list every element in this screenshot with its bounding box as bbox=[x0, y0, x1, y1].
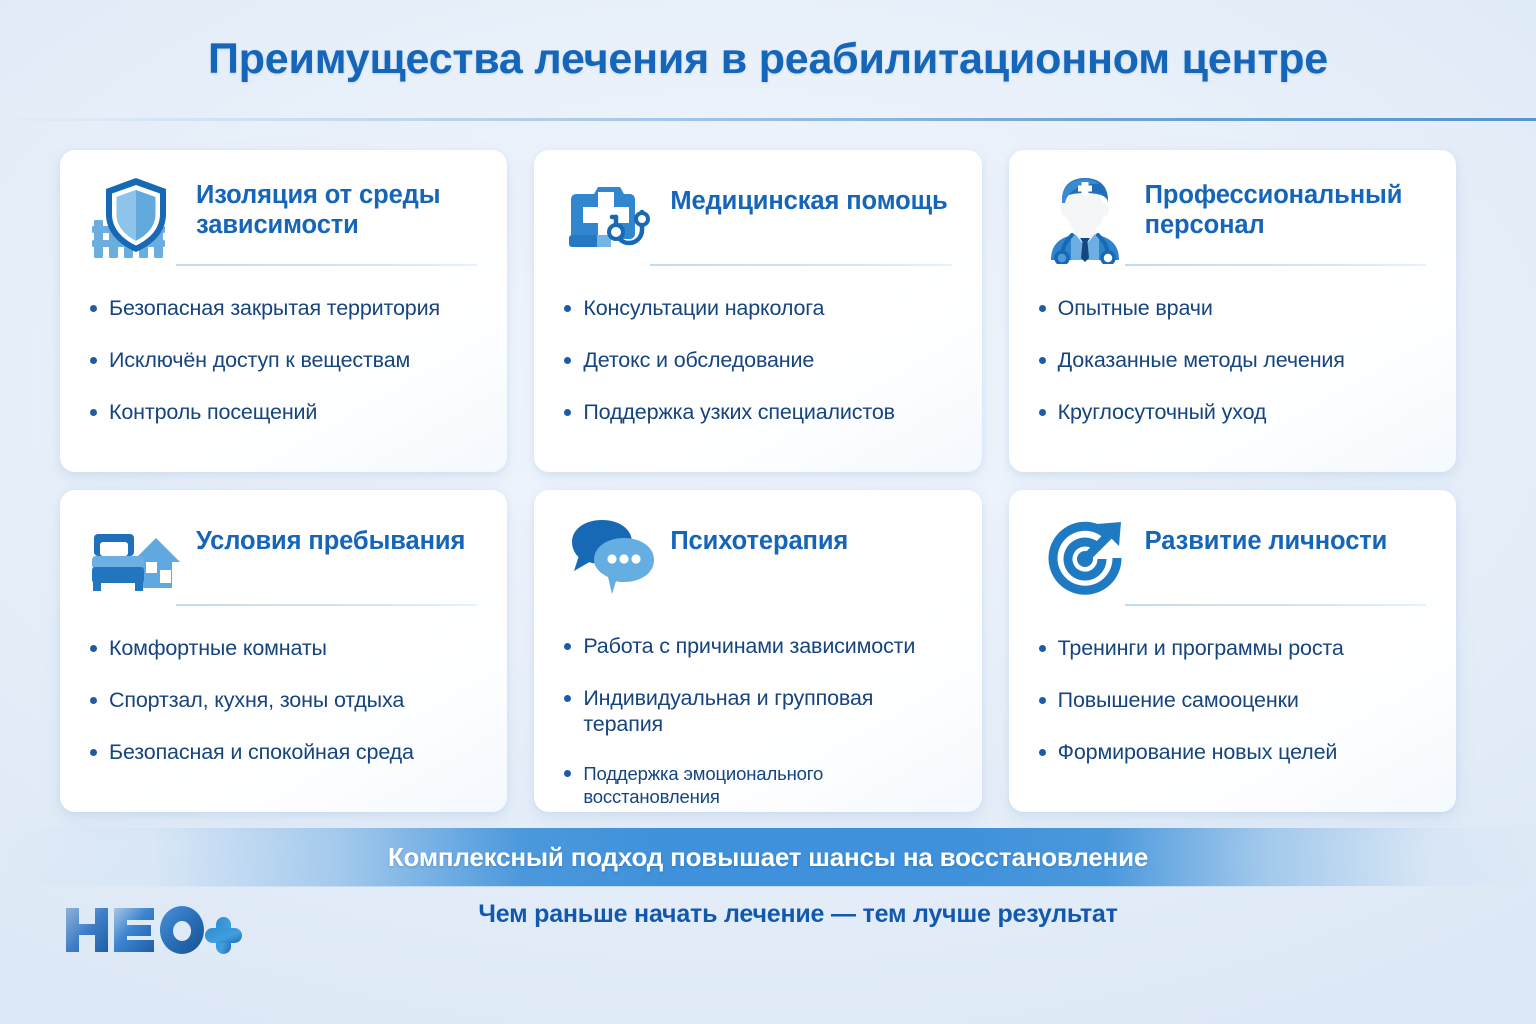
bullet-dot-icon bbox=[564, 409, 571, 416]
benefit-list: Комфортные комнаты Спортзал, кухня, зоны… bbox=[90, 636, 477, 765]
card-header: Психотерапия bbox=[564, 516, 951, 612]
list-item-label: Детокс и обследование bbox=[583, 348, 814, 374]
list-item-label: Круглосуточный уход bbox=[1058, 400, 1267, 426]
speech-bubbles-icon bbox=[564, 512, 656, 604]
shield-fence-icon bbox=[90, 172, 182, 264]
card-header: Медицинская помощь bbox=[564, 176, 951, 272]
card-divider bbox=[1125, 604, 1426, 606]
card-divider bbox=[650, 264, 951, 266]
benefit-list: Безопасная закрытая территория Исключён … bbox=[90, 296, 477, 425]
list-item: Комфортные комнаты bbox=[90, 636, 477, 662]
footer-tagline: Чем раньше начать лечение — тем лучше ре… bbox=[0, 900, 1536, 929]
card-divider bbox=[176, 264, 477, 266]
card-divider bbox=[1125, 264, 1426, 266]
card-title: Условия пребывания bbox=[196, 516, 465, 556]
page-header: Преимущества лечения в реабилитационном … bbox=[0, 0, 1536, 118]
bed-house-icon bbox=[90, 512, 182, 604]
card-header: Профессиональный персонал bbox=[1039, 176, 1426, 272]
list-item: Контроль посещений bbox=[90, 400, 477, 426]
list-item: Безопасная и спокойная среда bbox=[90, 740, 477, 766]
benefit-list: Тренинги и программы роста Повышение сам… bbox=[1039, 636, 1426, 765]
list-item: Безопасная закрытая территория bbox=[90, 296, 477, 322]
bullet-dot-icon bbox=[90, 645, 97, 652]
list-item: Поддержка эмоционального восстановления bbox=[564, 763, 951, 807]
list-item-label: Комфортные комнаты bbox=[109, 636, 327, 662]
page-title: Преимущества лечения в реабилитационном … bbox=[208, 35, 1328, 84]
page-footer: Чем раньше начать лечение — тем лучше ре… bbox=[0, 886, 1536, 976]
benefit-card-medical-help[interactable]: Медицинская помощь Консультации нарколог… bbox=[534, 150, 981, 472]
list-item: Детокс и обследование bbox=[564, 348, 951, 374]
list-item-label: Доказанные методы лечения bbox=[1058, 348, 1345, 374]
list-item-label: Исключён доступ к веществам bbox=[109, 348, 410, 374]
doctor-icon bbox=[1039, 172, 1131, 264]
card-title: Медицинская помощь bbox=[670, 176, 947, 216]
list-item-label: Поддержка эмоционального восстановления bbox=[583, 763, 951, 807]
bullet-dot-icon bbox=[90, 749, 97, 756]
bullet-dot-icon bbox=[1039, 409, 1046, 416]
card-header: Условия пребывания bbox=[90, 516, 477, 612]
benefit-card-psychotherapy[interactable]: Психотерапия Работа с причинами зависимо… bbox=[534, 490, 981, 812]
benefit-card-personal-growth[interactable]: Развитие личности Тренинги и программы р… bbox=[1009, 490, 1456, 812]
list-item-label: Повышение самооценки bbox=[1058, 688, 1299, 714]
summary-banner: Комплексный подход повышает шансы на вос… bbox=[0, 828, 1536, 886]
bullet-dot-icon bbox=[90, 409, 97, 416]
bullet-dot-icon bbox=[90, 697, 97, 704]
benefit-card-professional-staff[interactable]: Профессиональный персонал Опытные врачи … bbox=[1009, 150, 1456, 472]
card-title: Психотерапия bbox=[670, 516, 848, 556]
list-item-label: Опытные врачи bbox=[1058, 296, 1213, 322]
list-item: Тренинги и программы роста bbox=[1039, 636, 1426, 662]
target-arrow-icon bbox=[1039, 512, 1131, 604]
card-title: Профессиональный персонал bbox=[1145, 176, 1426, 240]
bullet-dot-icon bbox=[564, 695, 571, 702]
card-divider bbox=[176, 604, 477, 606]
list-item: Повышение самооценки bbox=[1039, 688, 1426, 714]
list-item: Опытные врачи bbox=[1039, 296, 1426, 322]
bullet-dot-icon bbox=[1039, 749, 1046, 756]
bullet-dot-icon bbox=[564, 305, 571, 312]
card-header: Изоляция от среды зависимости bbox=[90, 176, 477, 272]
list-item: Консультации нарколога bbox=[564, 296, 951, 322]
card-title: Изоляция от среды зависимости bbox=[196, 176, 477, 240]
bullet-dot-icon bbox=[564, 643, 571, 650]
medical-bag-stethoscope-icon bbox=[564, 172, 656, 264]
list-item: Работа с причинами зависимости bbox=[564, 634, 951, 660]
bullet-dot-icon bbox=[1039, 697, 1046, 704]
bullet-dot-icon bbox=[564, 357, 571, 364]
list-item-label: Безопасная закрытая территория bbox=[109, 296, 440, 322]
list-item: Исключён доступ к веществам bbox=[90, 348, 477, 374]
bullet-dot-icon bbox=[1039, 357, 1046, 364]
list-item-label: Поддержка узких специалистов bbox=[583, 400, 895, 426]
list-item-label: Консультации нарколога bbox=[583, 296, 824, 322]
benefit-card-accommodation[interactable]: Условия пребывания Комфортные комнаты Сп… bbox=[60, 490, 507, 812]
list-item: Круглосуточный уход bbox=[1039, 400, 1426, 426]
list-item-label: Индивидуальная и групповая терапия bbox=[583, 686, 951, 738]
benefit-list: Работа с причинами зависимости Индивидуа… bbox=[564, 634, 951, 808]
benefit-list: Опытные врачи Доказанные методы лечения … bbox=[1039, 296, 1426, 425]
banner-text: Комплексный подход повышает шансы на вос… bbox=[388, 842, 1148, 873]
bullet-dot-icon bbox=[1039, 645, 1046, 652]
bullet-dot-icon bbox=[1039, 305, 1046, 312]
benefit-card-isolation[interactable]: Изоляция от среды зависимости Безопасная… bbox=[60, 150, 507, 472]
list-item: Поддержка узких специалистов bbox=[564, 400, 951, 426]
list-item: Индивидуальная и групповая терапия bbox=[564, 686, 951, 738]
list-item-label: Работа с причинами зависимости bbox=[583, 634, 915, 660]
card-title: Развитие личности bbox=[1145, 516, 1388, 556]
list-item-label: Формирование новых целей bbox=[1058, 740, 1338, 766]
bullet-dot-icon bbox=[564, 770, 571, 777]
list-item-label: Контроль посещений bbox=[109, 400, 317, 426]
card-header: Развитие личности bbox=[1039, 516, 1426, 612]
bullet-dot-icon bbox=[90, 357, 97, 364]
benefit-list: Консультации нарколога Детокс и обследов… bbox=[564, 296, 951, 425]
footer-divider bbox=[130, 886, 1356, 887]
bullet-dot-icon bbox=[90, 305, 97, 312]
list-item-label: Тренинги и программы роста bbox=[1058, 636, 1344, 662]
benefits-grid: Изоляция от среды зависимости Безопасная… bbox=[60, 150, 1456, 812]
list-item-label: Безопасная и спокойная среда bbox=[109, 740, 414, 766]
list-item: Спортзал, кухня, зоны отдыха bbox=[90, 688, 477, 714]
list-item: Доказанные методы лечения bbox=[1039, 348, 1426, 374]
header-divider bbox=[0, 118, 1536, 121]
list-item: Формирование новых целей bbox=[1039, 740, 1426, 766]
list-item-label: Спортзал, кухня, зоны отдыха bbox=[109, 688, 404, 714]
